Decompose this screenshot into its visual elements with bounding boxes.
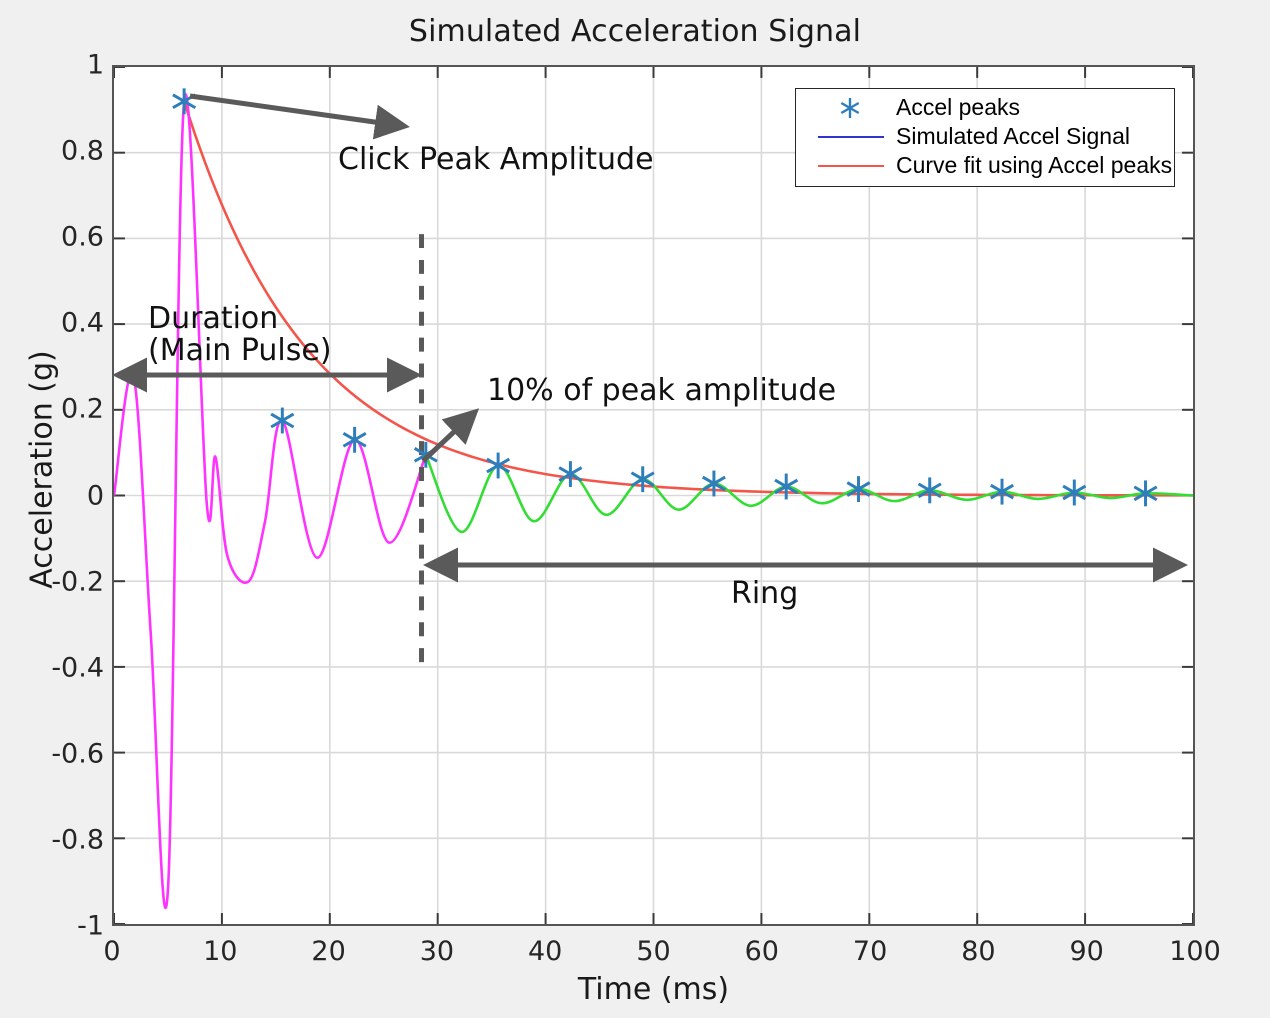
peak-marker[interactable] (847, 476, 869, 502)
annotation-duration-line1: Duration (148, 303, 332, 335)
peak-marker[interactable] (631, 466, 653, 492)
asterisk-icon (838, 96, 862, 120)
x-tick-label: 50 (609, 936, 699, 967)
x-tick-label: 70 (825, 936, 915, 967)
y-tick-label: -0.8 (34, 824, 104, 855)
legend-sample-line-blue (804, 122, 896, 151)
y-axis-label: Acceleration (g) (25, 190, 60, 750)
legend-item-curve-fit[interactable]: Curve fit using Accel peaks (796, 151, 1174, 180)
annotation-duration-line2: (Main Pulse) (148, 335, 332, 367)
x-tick-label: 0 (67, 936, 157, 967)
x-tick-label: 100 (1150, 936, 1240, 967)
plot-area[interactable] (112, 65, 1195, 926)
x-tick-label: 90 (1042, 936, 1132, 967)
legend-label-curve-fit: Curve fit using Accel peaks (896, 154, 1172, 177)
x-tick-label: 20 (284, 936, 374, 967)
annotation-ten-percent: 10% of peak amplitude (487, 375, 836, 407)
legend-item-simulated-signal[interactable]: Simulated Accel Signal (796, 122, 1174, 151)
legend[interactable]: Accel peaks Simulated Accel Signal Curve… (795, 88, 1175, 187)
x-tick-label: 80 (933, 936, 1023, 967)
annotation-ring: Ring (731, 578, 798, 610)
line-swatch-blue (818, 136, 884, 138)
legend-label-simulated-signal: Simulated Accel Signal (896, 125, 1130, 148)
peak-marker[interactable] (173, 88, 195, 114)
signal-main-pulse-line (114, 94, 426, 907)
legend-sample-marker (804, 93, 896, 122)
y-tick-label: 0.8 (34, 136, 104, 167)
legend-item-accel-peaks[interactable]: Accel peaks (796, 93, 1174, 122)
peak-marker[interactable] (703, 471, 725, 497)
x-tick-label: 60 (717, 936, 807, 967)
legend-label-accel-peaks: Accel peaks (896, 96, 1020, 119)
peak-marker[interactable] (271, 408, 293, 434)
x-tick-label: 30 (392, 936, 482, 967)
chart-svg (114, 67, 1193, 924)
line-swatch-red (818, 165, 884, 167)
annotation-duration: Duration (Main Pulse) (148, 303, 332, 368)
x-tick-label: 40 (500, 936, 590, 967)
peak-marker[interactable] (559, 461, 581, 487)
x-tick-label: 10 (175, 936, 265, 967)
annotation-click-peak-amplitude: Click Peak Amplitude (338, 144, 654, 176)
y-tick-label: 1 (34, 50, 104, 81)
x-axis-label: Time (ms) (112, 972, 1195, 1007)
page-title: Simulated Acceleration Signal (0, 14, 1270, 49)
peak-marker[interactable] (415, 442, 437, 468)
figure-canvas: Simulated Acceleration Signal 10.80.60.4… (0, 0, 1270, 1018)
legend-sample-line-red (804, 151, 896, 180)
